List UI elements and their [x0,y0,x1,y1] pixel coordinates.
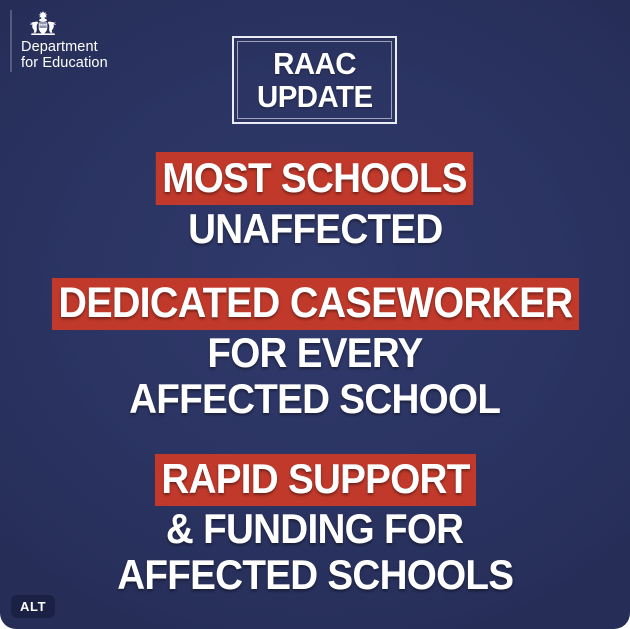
message-block: RAPID SUPPORT & FUNDING FOR AFFECTED SCH… [0,454,630,598]
raac-update-poster: Department for Education RAAC UPDATE MOS… [0,0,630,629]
message-block: DEDICATED CASEWORKER FOR EVERY AFFECTED … [0,278,630,422]
alt-text-badge[interactable]: ALT [11,595,55,618]
message-line: FOR EVERY [207,330,422,376]
raac-update-line-2: UPDATE [257,80,372,113]
message-block: MOST SCHOOLS UNAFFECTED [0,152,630,252]
message-highlight: RAPID SUPPORT [154,454,475,506]
message-line: UNAFFECTED [188,205,443,252]
branding-body: Department for Education [21,10,108,71]
organisation-name: Department for Education [21,40,108,71]
uk-royal-crest-icon [23,10,63,37]
message-line: AFFECTED SCHOOLS [117,552,513,598]
message-list: MOST SCHOOLS UNAFFECTED DEDICATED CASEWO… [0,152,630,598]
branding-divider [10,10,12,72]
raac-update-badge: RAAC UPDATE [232,36,397,124]
message-line: & FUNDING FOR [166,506,463,552]
department-branding: Department for Education [10,10,108,76]
raac-update-line-1: RAAC [273,47,356,80]
message-line: AFFECTED SCHOOL [129,376,500,422]
message-highlight: MOST SCHOOLS [156,152,473,205]
message-highlight: DEDICATED CASEWORKER [51,278,578,330]
raac-update-badge-inner: RAAC UPDATE [237,41,392,119]
